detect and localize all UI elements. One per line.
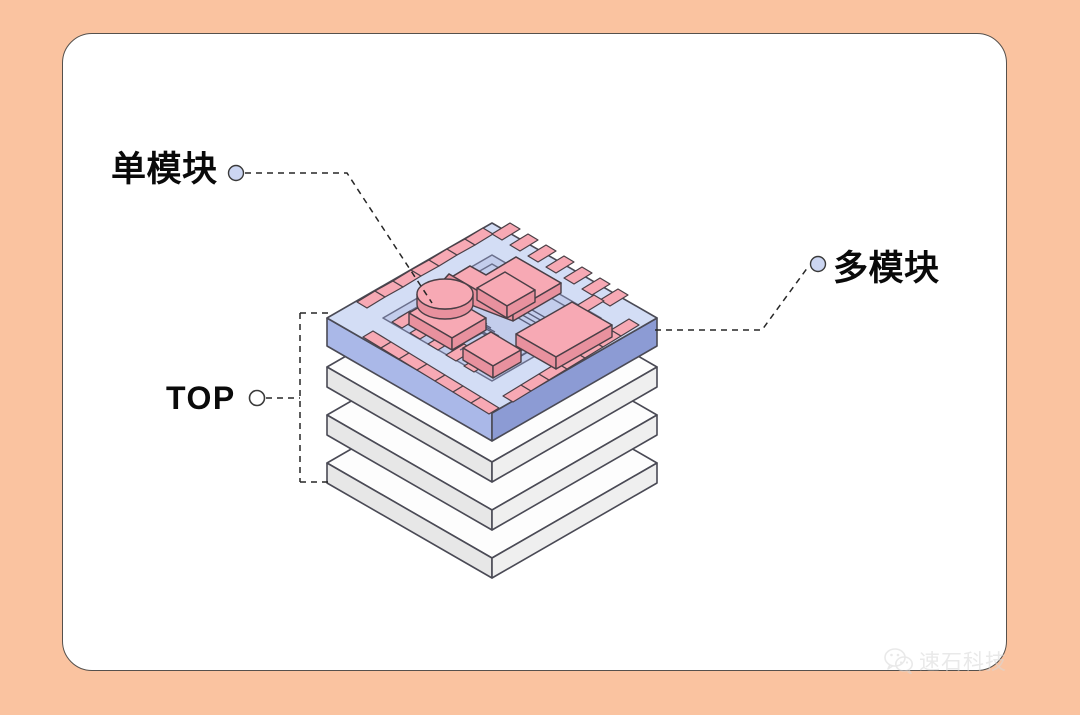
diagram-card — [62, 33, 1007, 671]
watermark: 速石科技 — [884, 646, 1007, 676]
screenshot-stage: 单模块 多模块 TOP 速石科技 — [0, 0, 1080, 715]
label-multi-module: 多模块 — [833, 249, 940, 289]
label-single-module: 单模块 — [111, 150, 218, 190]
watermark-text: 速石科技 — [919, 646, 1007, 676]
label-top-layer: TOP — [166, 379, 236, 417]
wechat-icon — [884, 648, 914, 674]
